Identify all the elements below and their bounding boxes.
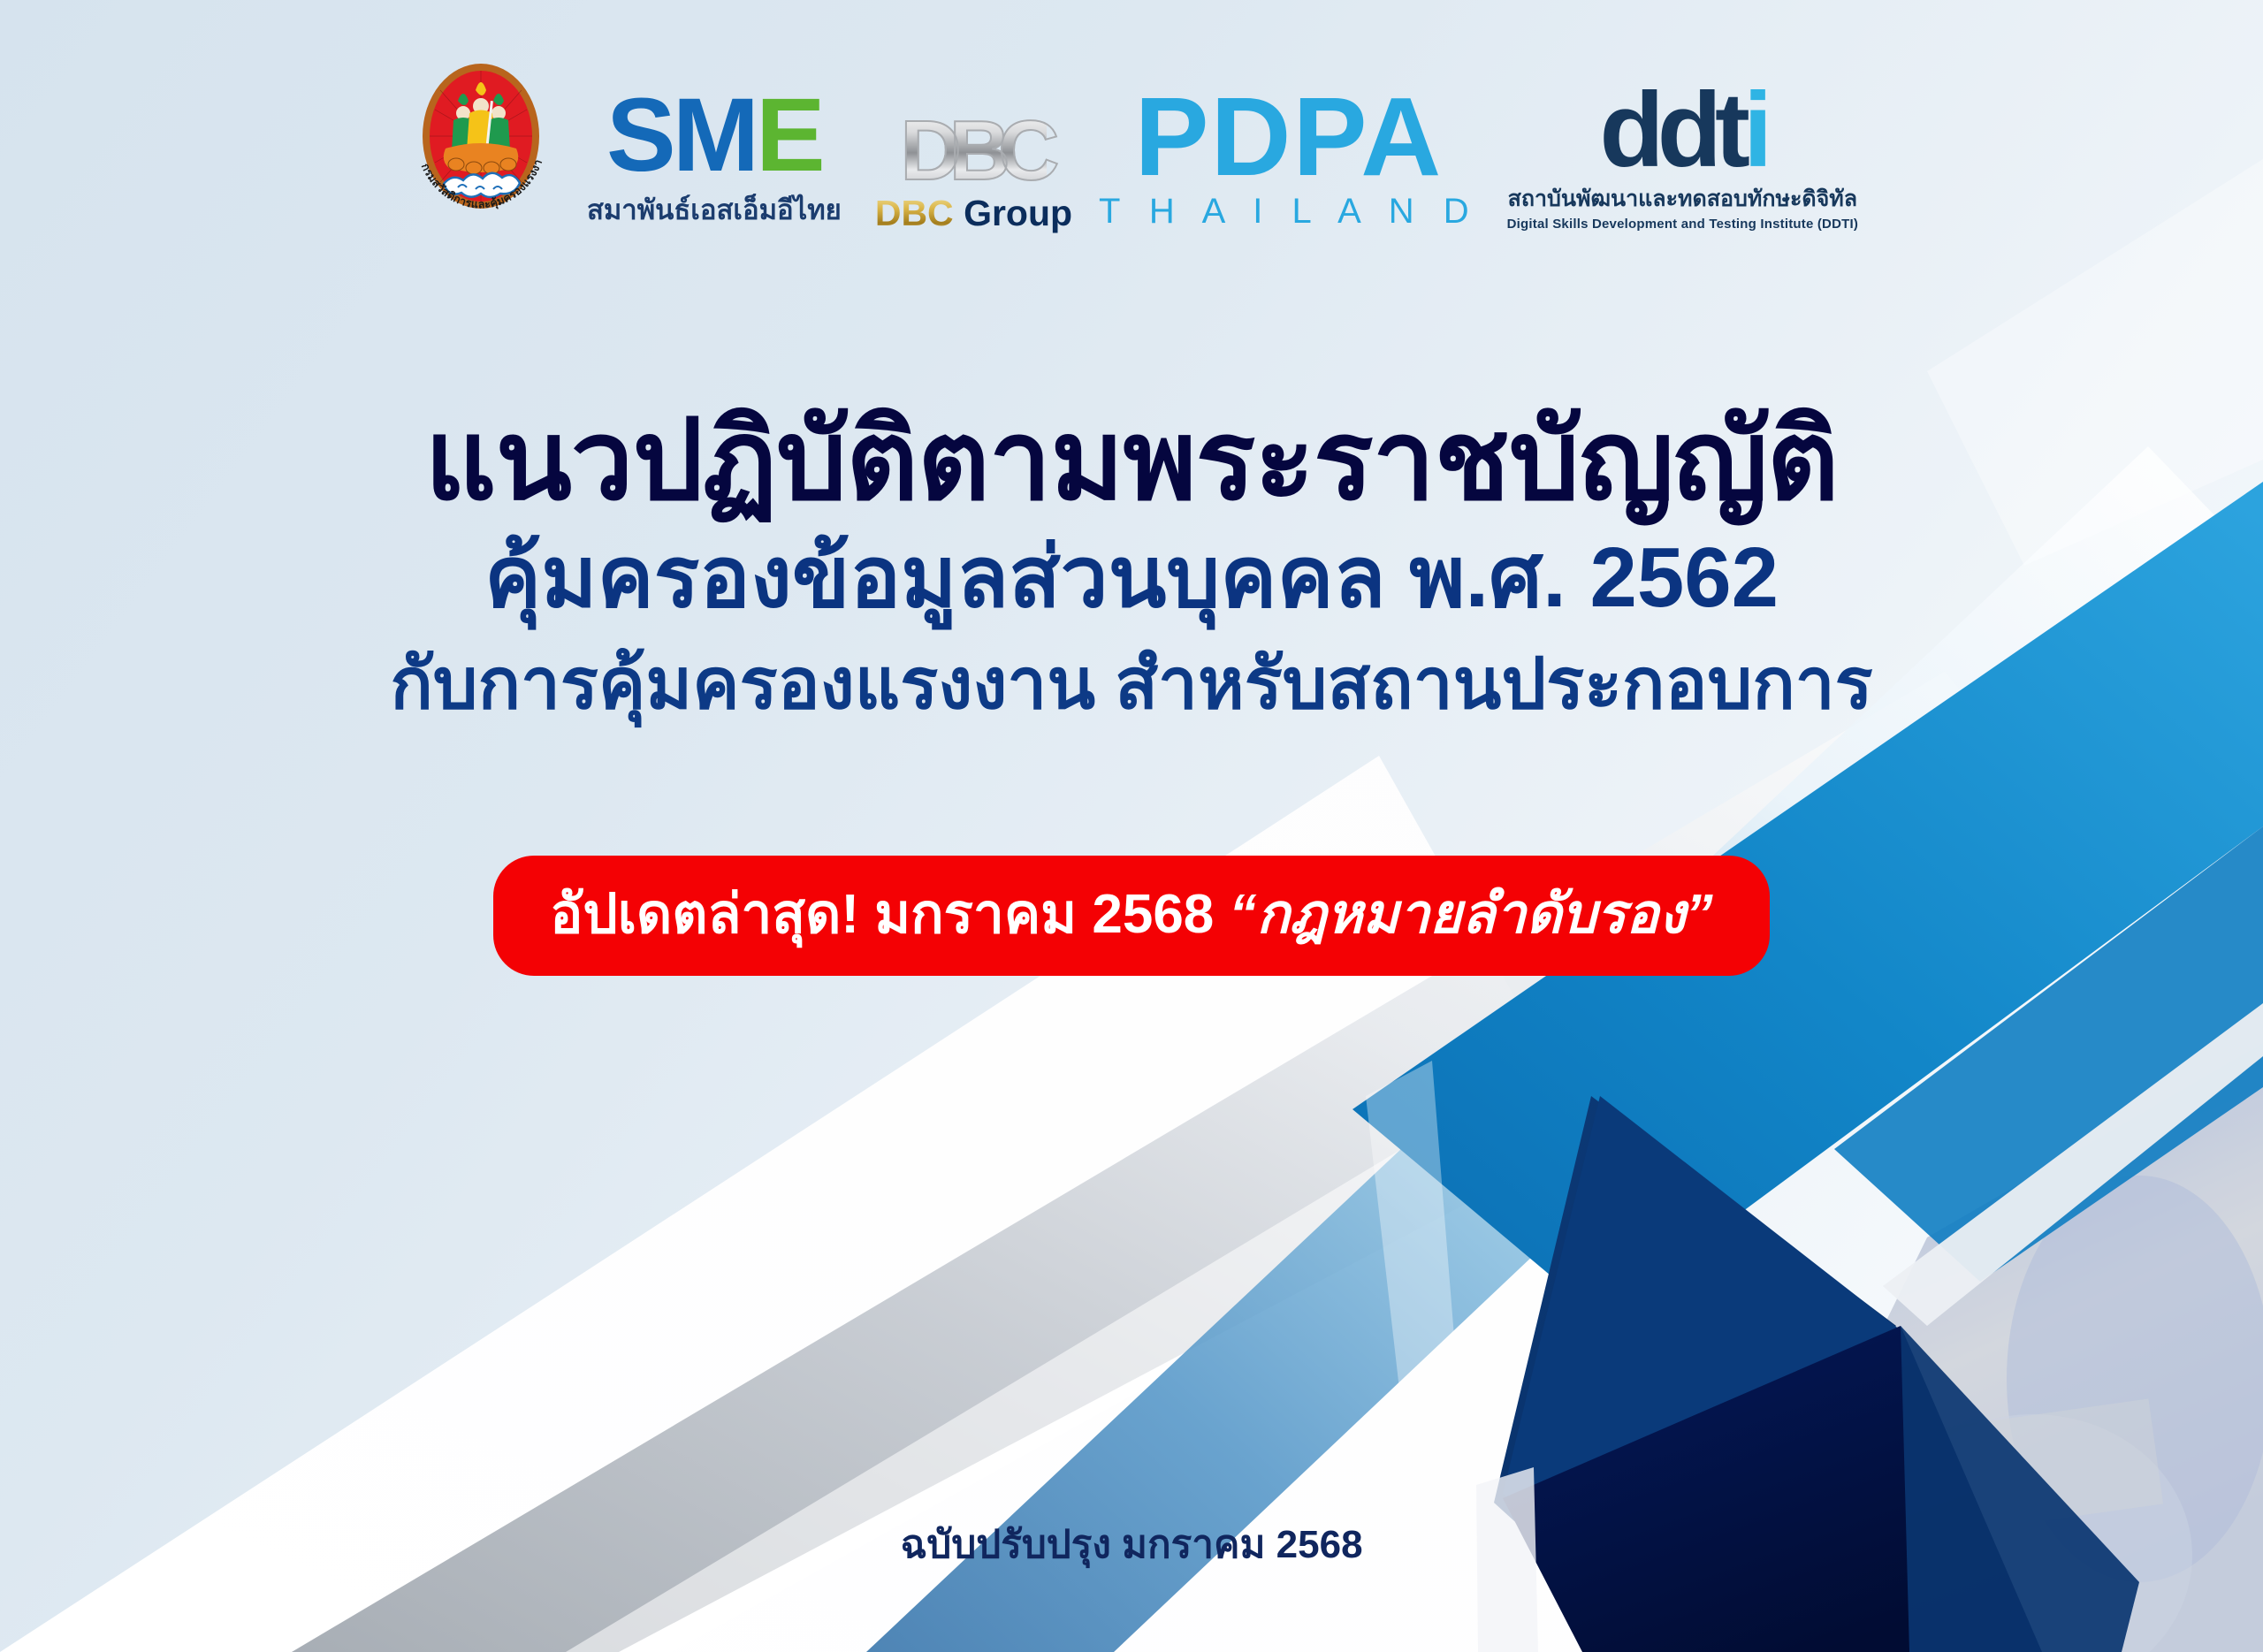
headline-line-1: แนวปฏิบัติตามพระราชบัญญัติ <box>0 400 2263 522</box>
headline-line-2: คุ้มครองข้อมูลส่วนบุคคล พ.ศ. 2562 <box>0 528 2263 628</box>
background-geometric-art <box>0 0 2263 1652</box>
ddti-letter-i: i <box>1743 71 1765 189</box>
pdpa-wordmark: PDPA <box>1134 87 1443 187</box>
cover-headline: แนวปฏิบัติตามพระราชบัญญัติ คุ้มครองข้อมู… <box>0 400 2263 727</box>
dbc-group-logo: DBC DBC Group <box>875 109 1072 232</box>
update-badge: อัปเดตล่าสุด! มกราคม 2568 “กฎหมายลำดับรอ… <box>493 856 1770 976</box>
ddti-logo: ddti สถาบันพัฒนาและทดสอบทักษะดิจิทัล Dig… <box>1507 82 1858 232</box>
pdpa-subtitle-thailand: T H A I L A N D <box>1099 192 1479 232</box>
sme-letter-s: S <box>606 88 673 184</box>
pdpa-thailand-logo: PDPA T H A I L A N D <box>1099 87 1479 232</box>
cover-page: กรมสวัสดิการและคุ้มครองแรงงาน S M E สมาพ… <box>0 0 2263 1652</box>
update-badge-text: อัปเดตล่าสุด! มกราคม 2568 <box>550 884 1229 945</box>
sme-thailand-logo: S M E สมาพันธ์เอสเอ็มอีไทย <box>587 88 842 232</box>
ddti-letter-t: t <box>1715 71 1743 189</box>
ddti-subtitle-english: Digital Skills Development and Testing I… <box>1507 217 1858 232</box>
sme-subtitle: สมาพันธ์เอสเอ็มอีไทย <box>587 187 842 232</box>
partner-logo-row: กรมสวัสดิการและคุ้มครองแรงงาน S M E สมาพ… <box>0 55 2263 232</box>
ddti-subtitle-thai: สถาบันพัฒนาและทดสอบทักษะดิจิทัล <box>1508 181 1858 217</box>
ddti-wordmark: ddti <box>1599 82 1765 178</box>
dbc-subtitle-navy: Group <box>954 193 1072 233</box>
ddti-letters-dd: dd <box>1599 71 1715 189</box>
sme-letter-m: M <box>673 88 756 184</box>
dbc-group-subtitle: DBC Group <box>875 195 1072 232</box>
revision-footer: ฉบับปรับปรุง มกราคม 2568 <box>0 1513 2263 1575</box>
headline-line-3: กับการคุ้มครองแรงงาน สำหรับสถานประกอบการ <box>0 642 2263 727</box>
dbc-chrome-wordmark: DBC <box>900 109 1047 194</box>
update-badge-quoted-text: “กฎหมายลำดับรอง” <box>1230 884 1713 945</box>
dbc-subtitle-gold: DBC <box>875 193 954 233</box>
update-badge-wrapper: อัปเดตล่าสุด! มกราคม 2568 “กฎหมายลำดับรอ… <box>0 856 2263 976</box>
ministry-of-labour-emblem-logo: กรมสวัสดิการและคุ้มครองแรงงาน <box>405 55 557 232</box>
sme-letter-e: E <box>756 88 822 184</box>
sme-wordmark: S M E <box>606 88 822 184</box>
